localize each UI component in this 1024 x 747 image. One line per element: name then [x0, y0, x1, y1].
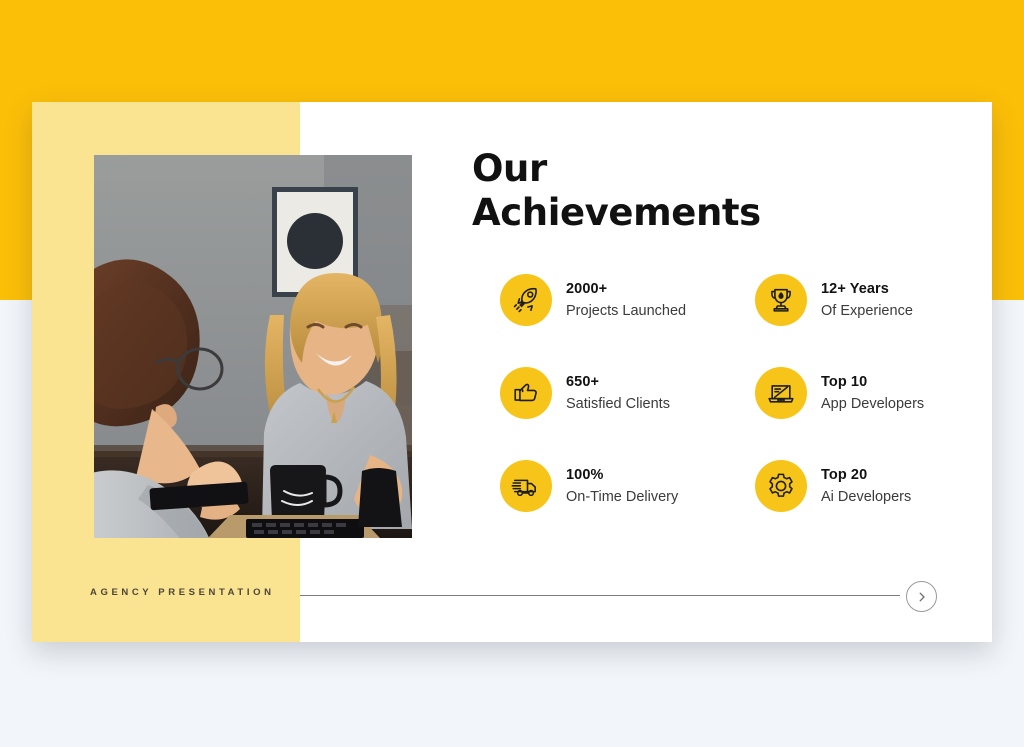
slide-card: Our Achievements: [32, 102, 992, 642]
trophy-icon: [755, 274, 807, 326]
stat-value: Top 20: [821, 465, 911, 485]
stat-label: On-Time Delivery: [566, 487, 678, 508]
stat-item-ai-developers: Top 20 Ai Developers: [755, 460, 1000, 553]
stat-label: Satisfied Clients: [566, 394, 670, 415]
stat-text: 12+ Years Of Experience: [821, 274, 913, 322]
slide-content: Our Achievements: [472, 102, 992, 642]
stat-item-on-time-delivery: 100% On-Time Delivery: [500, 460, 755, 553]
stat-item-years-experience: 12+ Years Of Experience: [755, 274, 1000, 367]
page-title: Our Achievements: [472, 147, 761, 235]
stat-value: Top 10: [821, 372, 924, 392]
stat-item-projects-launched: 2000+ Projects Launched: [500, 274, 755, 367]
stat-value: 2000+: [566, 279, 686, 299]
title-line-2: Achievements: [472, 191, 761, 235]
stat-label: Ai Developers: [821, 487, 911, 508]
footer-divider: [300, 595, 900, 596]
footer-tagline: AGENCY PRESENTATION: [90, 587, 275, 598]
thumbs-up-icon: [500, 367, 552, 419]
stat-value: 650+: [566, 372, 670, 392]
meeting-photo: [94, 155, 412, 538]
stat-item-satisfied-clients: 650+ Satisfied Clients: [500, 367, 755, 460]
achievement-stats-grid: 2000+ Projects Launched: [500, 274, 1000, 553]
stat-label: Of Experience: [821, 301, 913, 322]
stat-text: 100% On-Time Delivery: [566, 460, 678, 508]
next-slide-button[interactable]: [906, 581, 937, 612]
page-root: Our Achievements: [0, 0, 1024, 747]
title-line-1: Our: [472, 147, 761, 191]
laptop-icon: [755, 367, 807, 419]
rocket-icon: [500, 274, 552, 326]
chevron-right-icon: [916, 591, 928, 603]
stat-value: 12+ Years: [821, 279, 913, 299]
gear-icon: [755, 460, 807, 512]
stat-text: Top 20 Ai Developers: [821, 460, 911, 508]
truck-icon: [500, 460, 552, 512]
stat-text: 650+ Satisfied Clients: [566, 367, 670, 415]
stat-text: 2000+ Projects Launched: [566, 274, 686, 322]
stat-item-app-developers: Top 10 App Developers: [755, 367, 1000, 460]
stat-text: Top 10 App Developers: [821, 367, 924, 415]
stat-label: App Developers: [821, 394, 924, 415]
stat-value: 100%: [566, 465, 678, 485]
stat-label: Projects Launched: [566, 301, 686, 322]
